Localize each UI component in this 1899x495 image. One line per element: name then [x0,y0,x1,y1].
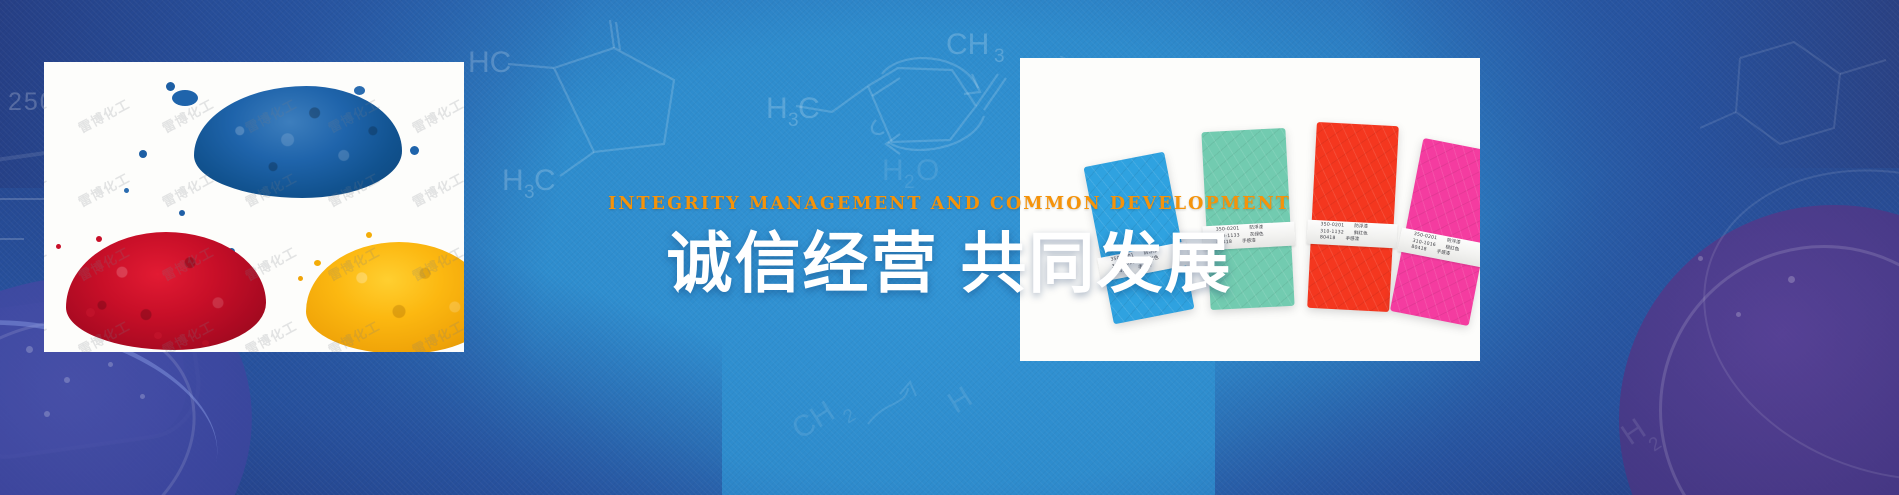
watermark-text: 雷博化工 [75,81,183,185]
powder-speck [56,244,61,249]
powder-speck [139,150,147,158]
watermark-text: 雷博化工 [44,155,100,259]
powder-speck [124,188,129,193]
card-label-band: 350-0201防浮漆 310-1132鲜红色 80418手感漆 [1306,220,1397,249]
decorative-dot [1698,256,1703,261]
powder-speck [366,232,372,238]
decorative-dot [1736,312,1741,317]
decorative-dot [64,377,70,383]
decorative-dot [44,411,50,417]
decorative-dot [26,346,33,353]
powder-speck [298,276,303,281]
powder-speck [86,308,95,317]
red-pigment-texture [66,232,266,350]
powder-speck [314,260,321,266]
promotional-banner: 250 HC H 3 C [0,0,1899,495]
product-photo-pigment-powders: 雷博化工 雷博化工 雷博化工 雷博化工 雷博化工 雷博化工 雷博化工 雷博化工 … [44,62,464,352]
powder-speck [166,82,175,91]
powder-speck [172,90,198,106]
decorative-dot [1788,276,1795,283]
card-texture [1307,122,1399,312]
powder-speck [410,146,419,155]
powder-speck [354,86,365,95]
yellow-pigment-texture [306,242,464,352]
pink-swatch-card: 350-0201防浮漆 310-1016桃红色 80418手感漆 [1390,138,1480,326]
watermark-text: 雷博化工 [408,62,464,111]
decorative-dot [140,394,145,399]
headline-part-one: 诚信经营 [667,225,939,302]
banner-tagline: INTEGRITY MANAGEMENT AND COMMON DEVELOPM… [608,194,1291,214]
red-swatch-card: 350-0201防浮漆 310-1132鲜红色 80418手感漆 [1307,122,1399,312]
powder-speck [154,332,162,339]
headline-part-two: 共同发展 [961,225,1233,302]
banner-headline: 诚信经营共同发展 [667,228,1233,301]
watermark-text: 雷博化工 [408,81,464,185]
beaker-tick-mark [0,238,24,240]
watermark-text: 雷博化工 [44,81,100,185]
banner-text-block: INTEGRITY MANAGEMENT AND COMMON DEVELOPM… [608,0,1291,495]
decorative-dot [108,362,113,367]
powder-speck [202,340,209,346]
powder-speck [96,236,102,242]
watermark-text: 雷博化工 [44,62,100,111]
powder-speck [179,210,185,216]
blue-pigment-texture [194,86,402,198]
